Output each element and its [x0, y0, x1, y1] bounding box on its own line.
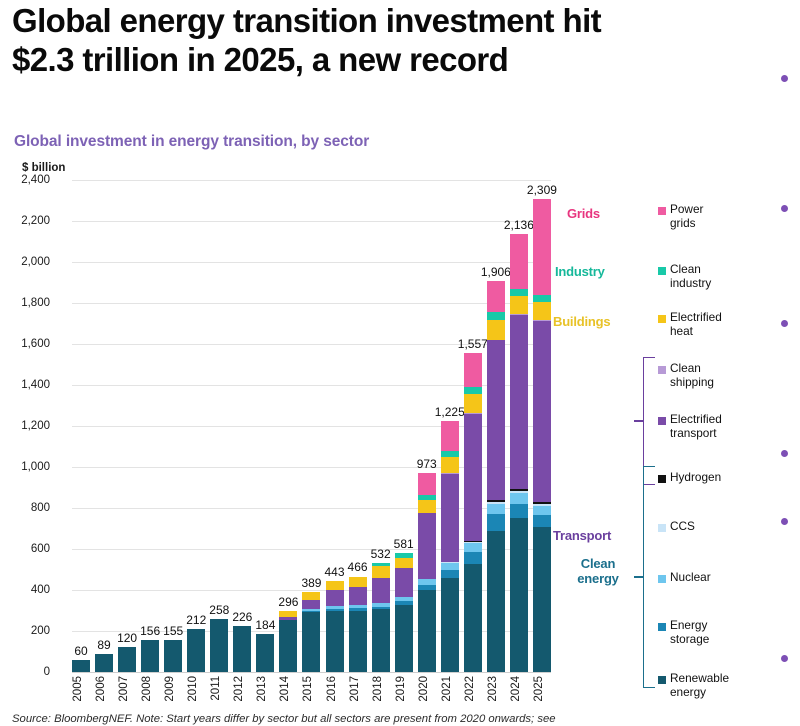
bar-segment[interactable] — [464, 543, 482, 552]
x-axis-tick-label: 2013 — [256, 676, 274, 702]
bar-value-label: 973 — [417, 458, 437, 470]
bar-value-label: 443 — [325, 566, 345, 578]
legend-swatch-icon — [658, 417, 666, 425]
legend-swatch-icon — [658, 676, 666, 684]
bar-segment[interactable] — [441, 421, 459, 451]
bar-segment[interactable] — [441, 578, 459, 672]
bar-value-label: 226 — [232, 611, 252, 623]
legend-item-label: Hydrogen — [670, 471, 721, 485]
bar-segment[interactable] — [441, 474, 459, 562]
bar-segment[interactable] — [210, 619, 228, 672]
legend-swatch-icon — [658, 575, 666, 583]
x-axis-tick-label: 2025 — [533, 676, 551, 702]
bar-column[interactable]: 2,309 — [533, 180, 551, 672]
edge-decoration-dot — [781, 205, 788, 212]
chart-plot-area: 02004006008001,0001,2001,4001,6001,8002,… — [54, 180, 551, 673]
bar-column[interactable]: 226 — [233, 180, 251, 672]
bar-segment[interactable] — [118, 647, 136, 672]
y-axis-tick: 1,000 — [21, 461, 50, 473]
bar-segment[interactable] — [510, 296, 528, 314]
legend-group-label-clean-energy: Clean energy — [559, 557, 637, 586]
x-axis-tick-label: 2010 — [187, 676, 205, 702]
bar-segment[interactable] — [326, 581, 344, 590]
edge-decoration-dot — [781, 655, 788, 662]
bar-segment[interactable] — [349, 577, 367, 588]
bar-segment[interactable] — [95, 654, 113, 672]
x-axis-tick-label: 2007 — [118, 676, 136, 702]
bar-segment[interactable] — [372, 578, 390, 603]
bar-segment[interactable] — [510, 315, 528, 488]
bar-value-label: 389 — [301, 577, 321, 589]
bar-segment[interactable] — [464, 564, 482, 672]
legend-item[interactable]: Power grids — [658, 203, 798, 231]
chart-legend: Power gridsClean industryElectrified hea… — [553, 185, 800, 685]
bar-column[interactable]: 258 — [210, 180, 228, 672]
bar-segment[interactable] — [72, 660, 90, 672]
x-axis-tick-label: 2015 — [302, 676, 320, 702]
bar-segment[interactable] — [533, 302, 551, 320]
legend-item[interactable]: Nuclear — [658, 571, 798, 585]
bar-segment[interactable] — [302, 600, 320, 609]
x-axis-tick-label: 2020 — [418, 676, 436, 702]
legend-item-label: CCS — [670, 520, 695, 534]
legend-item-label: Electrified transport — [670, 413, 722, 441]
bar-value-label: 156 — [140, 625, 160, 637]
legend-swatch-icon — [658, 475, 666, 483]
bar-value-label: 1,906 — [481, 266, 511, 278]
bar-value-label: 212 — [186, 614, 206, 626]
bar-segment[interactable] — [464, 414, 482, 541]
y-axis-tick: 0 — [44, 666, 50, 678]
chart-subtitle: Global investment in energy transition, … — [14, 133, 369, 151]
legend-item-label: Clean industry — [670, 263, 711, 291]
bar-segment[interactable] — [510, 493, 528, 504]
bar-segment[interactable] — [533, 295, 551, 302]
legend-item[interactable]: Clean industry — [658, 263, 798, 291]
legend-group-bracket-stem — [634, 420, 643, 422]
bar-column[interactable]: 184 — [256, 180, 274, 672]
bar-column[interactable]: 973 — [418, 180, 436, 672]
bar-column[interactable]: 156 — [141, 180, 159, 672]
bar-value-label: 1,225 — [435, 406, 465, 418]
bar-segment[interactable] — [372, 566, 390, 578]
legend-item-label: Clean shipping — [670, 362, 714, 390]
bar-value-label: 60 — [74, 645, 87, 657]
y-axis-tick: 200 — [31, 625, 50, 637]
x-axis-tick-label: 2005 — [72, 676, 90, 702]
x-axis-labels: 2005200620072008200920102011201220132014… — [72, 676, 551, 702]
bar-segment[interactable] — [464, 353, 482, 387]
bar-segment[interactable] — [487, 504, 505, 514]
bar-segment[interactable] — [533, 506, 551, 515]
bar-segment[interactable] — [487, 281, 505, 313]
legend-item-label: Nuclear — [670, 571, 711, 585]
legend-item[interactable]: Renewable energy — [658, 672, 798, 700]
x-axis-tick-label: 2009 — [164, 676, 182, 702]
y-axis-tick: 2,400 — [21, 174, 50, 186]
y-axis-tick: 1,400 — [21, 379, 50, 391]
legend-swatch-icon — [658, 623, 666, 631]
x-axis-tick-label: 2012 — [233, 676, 251, 702]
bar-segment[interactable] — [326, 611, 344, 672]
bar-value-label: 155 — [163, 625, 183, 637]
bar-segment[interactable] — [533, 199, 551, 295]
bar-segment[interactable] — [533, 527, 551, 672]
bar-segment[interactable] — [349, 611, 367, 673]
bar-segment[interactable] — [510, 289, 528, 296]
bar-segment[interactable] — [349, 587, 367, 605]
bar-segment[interactable] — [302, 612, 320, 672]
bar-segment[interactable] — [441, 451, 459, 458]
x-axis-tick-label: 2024 — [510, 676, 528, 702]
bar-segment[interactable] — [418, 473, 436, 495]
legend-item-label: Renewable energy — [670, 672, 729, 700]
x-axis-tick-label: 2022 — [464, 676, 482, 702]
legend-group-bracket-stem — [634, 576, 643, 578]
y-axis-tick: 2,000 — [21, 256, 50, 268]
x-axis-tick-label: 2019 — [395, 676, 413, 702]
bar-segment[interactable] — [395, 605, 413, 672]
legend-swatch-icon — [658, 524, 666, 532]
legend-group-bracket — [643, 466, 655, 688]
bar-segment[interactable] — [418, 513, 436, 579]
bar-column[interactable]: 389 — [302, 180, 320, 672]
bar-value-label: 466 — [348, 561, 368, 573]
bar-segment[interactable] — [441, 457, 459, 473]
legend-item[interactable]: Electrified heat — [658, 311, 798, 339]
bar-segment[interactable] — [372, 609, 390, 672]
y-axis-tick: 2,200 — [21, 215, 50, 227]
legend-item-label: Electrified heat — [670, 311, 722, 339]
legend-group-label-industry: Industry — [555, 265, 605, 280]
bar-column[interactable]: 443 — [326, 180, 344, 672]
bar-segment[interactable] — [510, 518, 528, 672]
legend-item[interactable]: Energy storage — [658, 619, 798, 647]
page-headline: Global energy transition investment hit … — [12, 2, 800, 79]
bar-segment[interactable] — [141, 640, 159, 672]
legend-item-label: Power grids — [670, 203, 703, 231]
y-axis-tick: 1,200 — [21, 420, 50, 432]
bar-segment[interactable] — [326, 590, 344, 606]
bar-segment[interactable] — [533, 515, 551, 528]
bar-segment[interactable] — [395, 568, 413, 597]
bar-segment[interactable] — [510, 504, 528, 518]
bar-segment[interactable] — [464, 387, 482, 394]
bar-column[interactable]: 1,557 — [464, 180, 482, 672]
x-axis-tick-label: 2021 — [441, 676, 459, 702]
legend-item[interactable]: Hydrogen — [658, 471, 798, 485]
legend-item[interactable]: Electrified transport — [658, 413, 798, 441]
bar-segment[interactable] — [395, 558, 413, 568]
bar-value-label: 184 — [255, 619, 275, 631]
bar-segment[interactable] — [441, 570, 459, 578]
y-axis-unit-label: $ billion — [22, 162, 65, 174]
bar-segment[interactable] — [279, 620, 297, 672]
y-axis-tick: 1,600 — [21, 338, 50, 350]
bar-value-label: 89 — [97, 639, 110, 651]
x-axis-tick-label: 2023 — [487, 676, 505, 702]
bar-value-label: 258 — [209, 604, 229, 616]
bar-column[interactable]: 581 — [395, 180, 413, 672]
bar-segment[interactable] — [487, 514, 505, 531]
edge-decoration-dot — [781, 320, 788, 327]
x-axis-tick-label: 2008 — [141, 676, 159, 702]
bar-value-label: 120 — [117, 632, 137, 644]
bar-segment[interactable] — [487, 340, 505, 500]
bar-segment[interactable] — [487, 320, 505, 339]
bar-column[interactable]: 120 — [118, 180, 136, 672]
bar-segment[interactable] — [418, 590, 436, 672]
bar-segment[interactable] — [418, 500, 436, 513]
bar-column[interactable]: 212 — [187, 180, 205, 672]
bar-segment[interactable] — [464, 552, 482, 564]
edge-decoration-dot — [781, 75, 788, 82]
bar-segment[interactable] — [441, 563, 459, 570]
legend-group-label-transport: Transport — [553, 529, 611, 544]
x-axis-tick-label: 2014 — [279, 676, 297, 702]
bar-column[interactable]: 296 — [279, 180, 297, 672]
bar-column[interactable]: 1,906 — [487, 180, 505, 672]
edge-decoration-dot — [781, 450, 788, 457]
bar-column[interactable]: 466 — [349, 180, 367, 672]
bar-segment[interactable] — [510, 234, 528, 288]
bar-segment[interactable] — [233, 626, 251, 672]
axis-baseline — [72, 672, 551, 673]
bar-segment[interactable] — [487, 531, 505, 672]
bar-segment[interactable] — [187, 629, 205, 672]
x-axis-tick-label: 2006 — [95, 676, 113, 702]
bar-segment[interactable] — [533, 321, 551, 501]
legend-group-label-grids: Grids — [567, 207, 600, 222]
y-axis-tick: 1,800 — [21, 297, 50, 309]
bar-column[interactable]: 89 — [95, 180, 113, 672]
edge-decoration-dot — [781, 518, 788, 525]
y-axis-tick: 800 — [31, 502, 50, 514]
bar-value-label: 1,557 — [458, 338, 488, 350]
legend-item[interactable]: Clean shipping — [658, 362, 798, 390]
legend-item[interactable]: CCS — [658, 520, 798, 534]
bar-segment[interactable] — [164, 640, 182, 672]
bar-column[interactable]: 155 — [164, 180, 182, 672]
bar-value-label: 2,136 — [504, 219, 534, 231]
bar-segment[interactable] — [256, 634, 274, 672]
bar-segment[interactable] — [302, 592, 320, 600]
bar-value-label: 581 — [394, 538, 414, 550]
legend-item-label: Energy storage — [670, 619, 709, 647]
legend-swatch-icon — [658, 315, 666, 323]
x-axis-tick-label: 2018 — [372, 676, 390, 702]
legend-group-label-buildings: Buildings — [553, 315, 610, 330]
bar-column[interactable]: 2,136 — [510, 180, 528, 672]
bar-segment[interactable] — [464, 394, 482, 412]
bar-series-container: 6089120156155212258226184296389443466532… — [72, 180, 551, 672]
bar-value-label: 296 — [278, 596, 298, 608]
y-axis-tick: 600 — [31, 543, 50, 555]
bar-column[interactable]: 1,225 — [441, 180, 459, 672]
y-axis-tick: 400 — [31, 584, 50, 596]
legend-swatch-icon — [658, 207, 666, 215]
legend-swatch-icon — [658, 366, 666, 374]
x-axis-tick-label: 2017 — [349, 676, 367, 702]
bar-segment[interactable] — [487, 312, 505, 320]
x-axis-tick-label: 2016 — [326, 676, 344, 702]
bar-value-label: 532 — [371, 548, 391, 560]
source-note: Source: BloombergNEF. Note: Start years … — [12, 713, 800, 725]
bar-column[interactable]: 60 — [72, 180, 90, 672]
legend-swatch-icon — [658, 267, 666, 275]
bar-column[interactable]: 532 — [372, 180, 390, 672]
x-axis-tick-label: 2011 — [210, 676, 228, 702]
